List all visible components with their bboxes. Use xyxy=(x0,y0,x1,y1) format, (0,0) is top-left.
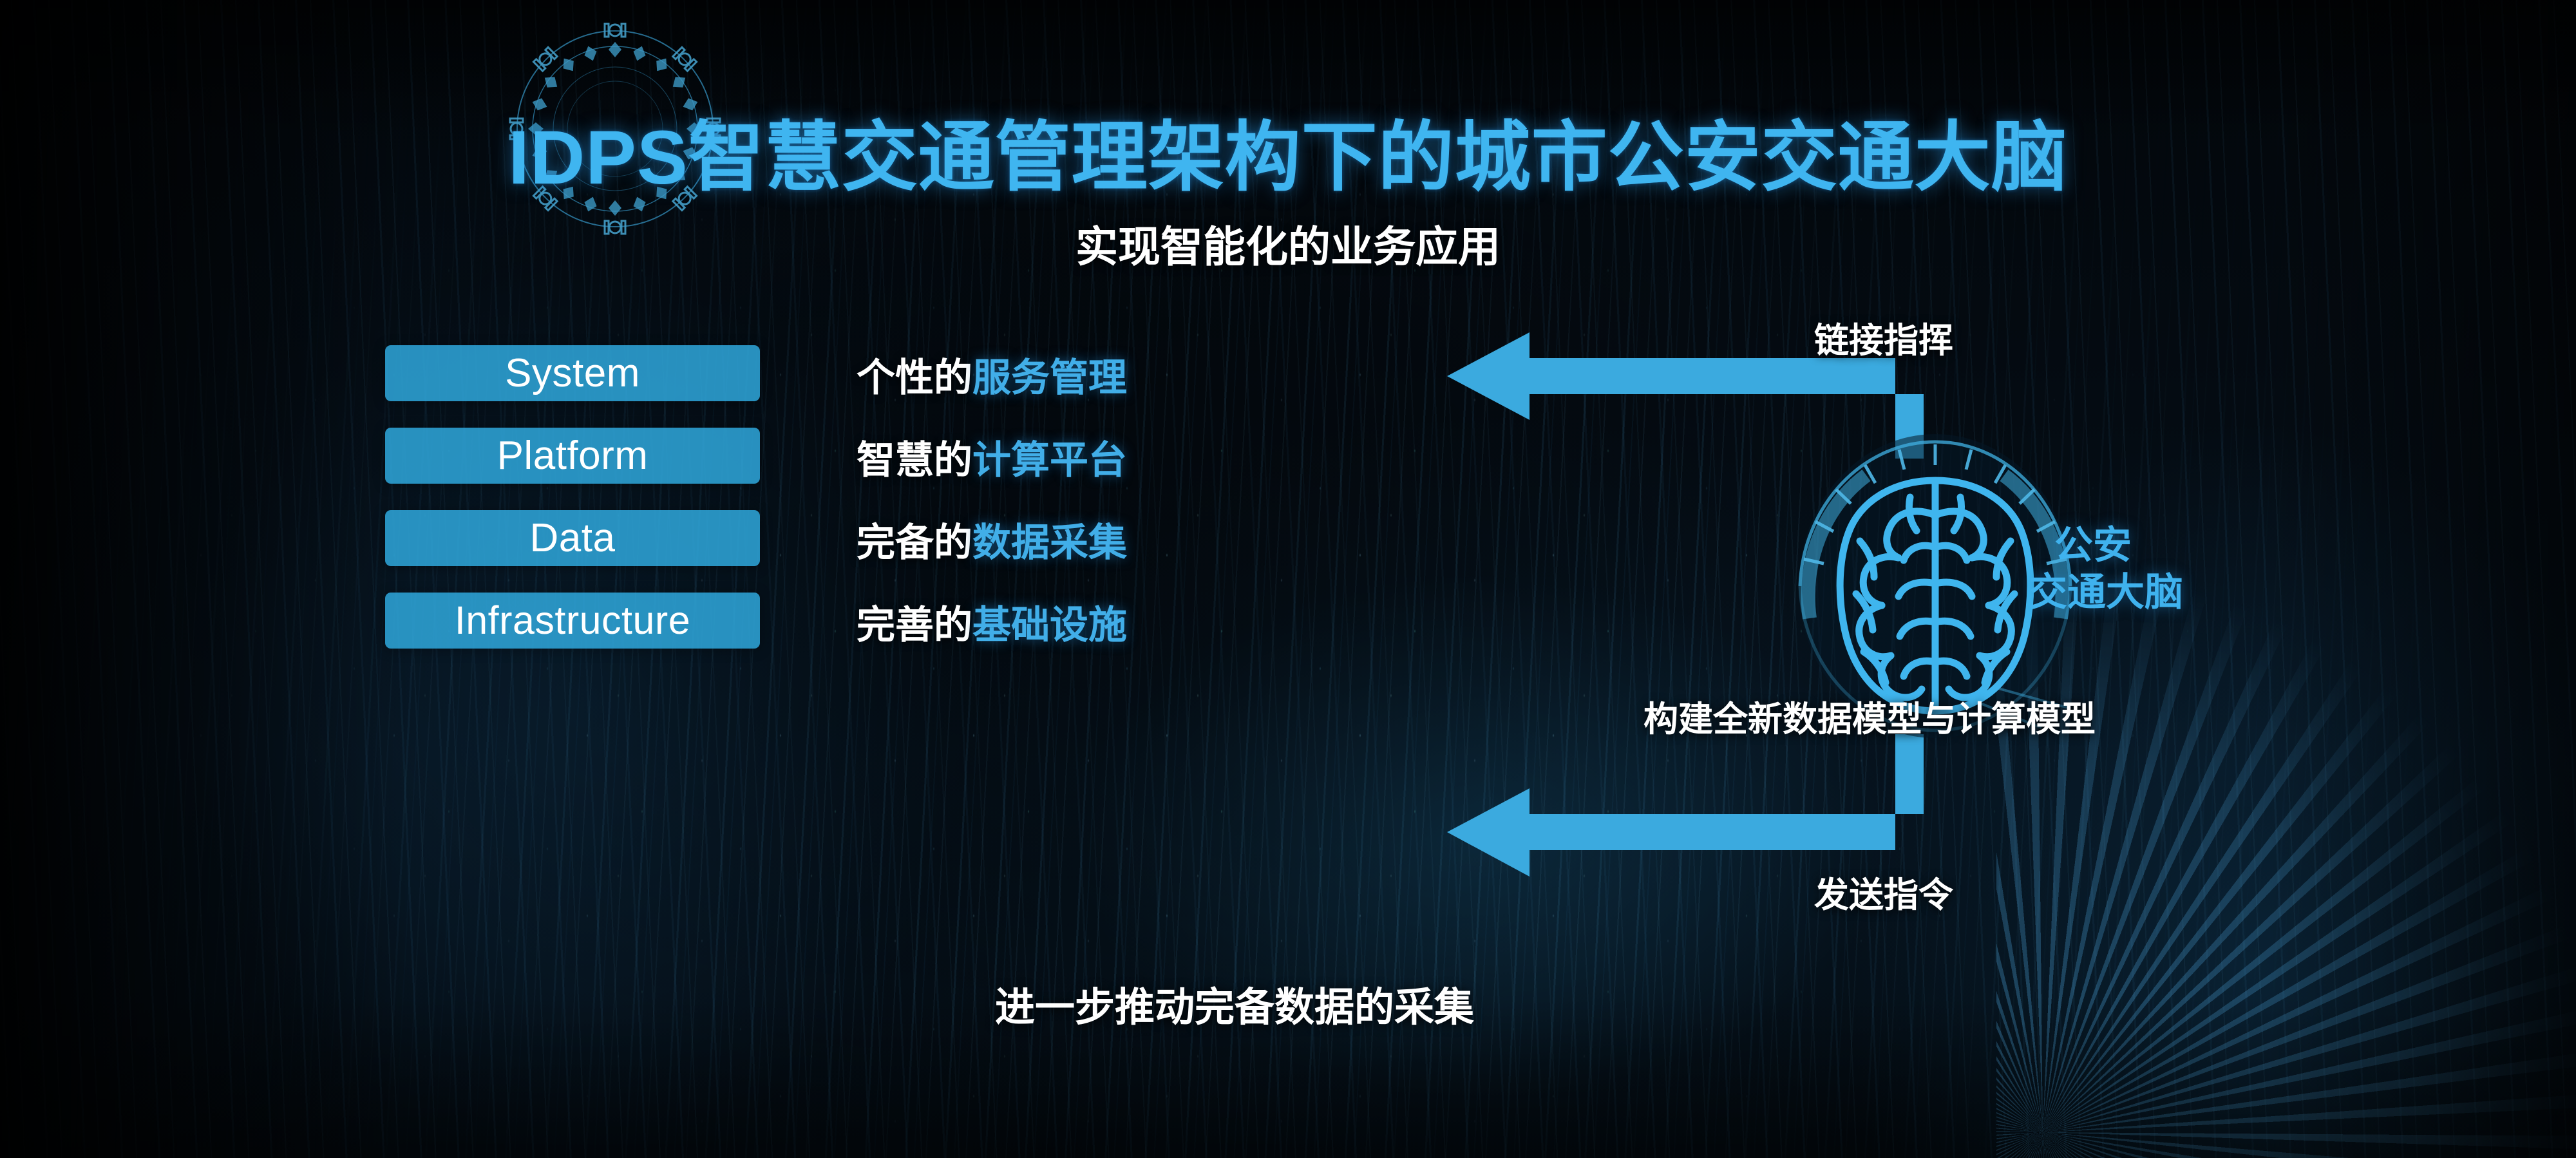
layer-box-system[interactable]: System xyxy=(385,345,760,401)
layer-description-infrastructure: 完善的 基础设施 xyxy=(857,594,1127,650)
layer-description-accent: 数据采集 xyxy=(972,511,1127,567)
layer-description-accent: 计算平台 xyxy=(972,429,1127,485)
layer-description-accent: 服务管理 xyxy=(972,346,1127,403)
layer-description-prefix: 完善的 xyxy=(857,594,972,650)
brain-label-line2: 交通大脑 xyxy=(2029,569,2183,616)
layer-description-list: 个性的 服务管理 智慧的 计算平台 完备的 数据采集 完善的 基础设施 xyxy=(857,346,1127,676)
layer-description-platform: 智慧的 计算平台 xyxy=(857,429,1127,485)
layer-description-data: 完备的 数据采集 xyxy=(857,511,1127,567)
layer-stack: System Platform Data Infrastructure xyxy=(385,345,760,675)
layer-description-prefix: 个性的 xyxy=(857,346,972,403)
brain-label-line1: 公安 xyxy=(2054,524,2132,567)
layer-description-accent: 基础设施 xyxy=(972,594,1127,650)
flow-label-bottom: 发送指令 xyxy=(1814,866,1953,917)
arrow-down-left-icon xyxy=(1433,734,1942,879)
layer-box-label: Data xyxy=(530,518,616,558)
layer-box-label: Platform xyxy=(497,436,649,476)
layer-box-platform[interactable]: Platform xyxy=(385,428,760,484)
flow-label-top: 链接指挥 xyxy=(1814,312,1953,363)
layer-description-prefix: 完备的 xyxy=(857,511,972,567)
layer-description-prefix: 智慧的 xyxy=(857,429,972,485)
layer-box-label: Infrastructure xyxy=(455,601,690,640)
layer-box-label: System xyxy=(505,354,640,394)
brain-label: 公安 交通大脑 xyxy=(2054,522,2183,616)
page-subtitle: 实现智能化的业务应用 xyxy=(0,213,2576,274)
layer-description-system: 个性的 服务管理 xyxy=(857,346,1127,403)
slide-canvas: IDPS智慧交通管理架构下的城市公安交通大脑 实现智能化的业务应用 System… xyxy=(0,0,2576,1158)
page-title: IDPS智慧交通管理架构下的城市公安交通大脑 xyxy=(0,95,2576,205)
layer-box-infrastructure[interactable]: Infrastructure xyxy=(385,593,760,649)
brain-caption: 构建全新数据模型与计算模型 xyxy=(1643,690,2096,741)
layer-box-data[interactable]: Data xyxy=(385,510,760,566)
footer-note: 进一步推动完备数据的采集 xyxy=(995,974,1474,1032)
